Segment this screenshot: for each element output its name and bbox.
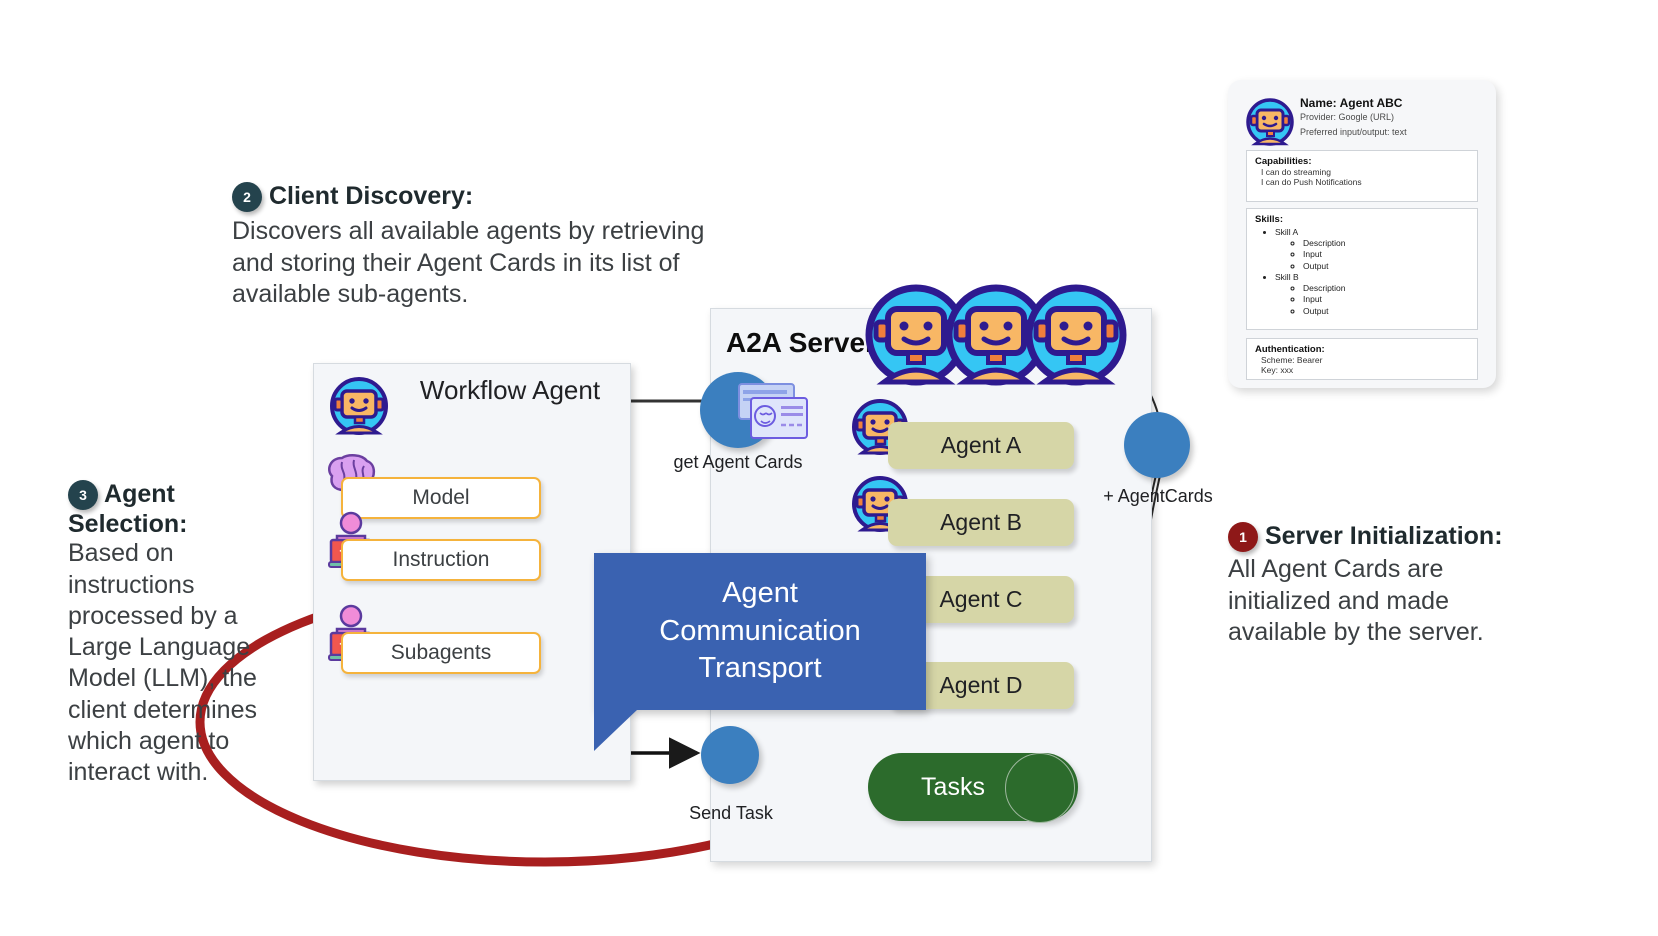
plus-agent-cards-label: + AgentCards: [1098, 486, 1218, 507]
capabilities-label: Capabilities:: [1255, 156, 1469, 167]
step-1-heading: 1 Server Initialization:: [1228, 522, 1538, 552]
step-3-badge: 3: [68, 480, 98, 510]
step-2-badge: 2: [232, 182, 262, 212]
agent-card-robot-icon: [1246, 98, 1294, 146]
capability-item-2: I can do Push Notifications: [1261, 177, 1469, 187]
bubble-line-1: Agent: [594, 575, 926, 613]
agent-chip-b[interactable]: Agent B: [888, 499, 1074, 546]
transport-bubble-tail: [594, 709, 638, 751]
skill-a-description: Description: [1303, 238, 1469, 249]
robot-trio-icon: [866, 286, 1128, 384]
step-1-badge: 1: [1228, 522, 1258, 552]
step-3-block: 3 Agent Selection: Based on instructions…: [68, 480, 280, 788]
send-task-label: Send Task: [676, 803, 786, 824]
agent-card-skills-section: Skills: Skill A Description Input Output…: [1246, 208, 1478, 330]
step-1-title: Server Initialization:: [1265, 522, 1503, 550]
agent-card-provider: Provider: Google (URL): [1300, 112, 1394, 122]
transport-bubble-text: Agent Communication Transport: [594, 575, 926, 688]
step-3-heading: 3 Agent Selection:: [68, 480, 280, 538]
capability-item-1: I can do streaming: [1261, 167, 1469, 177]
skill-b-description: Description: [1303, 283, 1469, 294]
send-task-node[interactable]: [701, 726, 759, 784]
bubble-line-3: Transport: [594, 650, 926, 688]
skill-item: Skill B Description Input Output: [1275, 272, 1469, 317]
bubble-line-2: Communication: [594, 613, 926, 651]
skill-item: Skill A Description Input Output: [1275, 227, 1469, 272]
agent-card-panel: Name: Agent ABC Provider: Google (URL) P…: [1228, 80, 1496, 388]
agent-card-preferred-io: Preferred input/output: text: [1300, 127, 1407, 137]
agent-card-capabilities-section: Capabilities: I can do streaming I can d…: [1246, 150, 1478, 202]
skill-b-sublist: Description Input Output: [1291, 283, 1469, 317]
auth-scheme: Scheme: Bearer: [1261, 355, 1469, 365]
agent-chip-a[interactable]: Agent A: [888, 422, 1074, 469]
agent-card-auth-section: Authentication: Scheme: Bearer Key: xxx: [1246, 338, 1478, 380]
skills-list: Skill A Description Input Output Skill B…: [1265, 227, 1469, 317]
workflow-chip-instruction[interactable]: Instruction: [341, 539, 541, 581]
workflow-chip-subagents[interactable]: Subagents: [341, 632, 541, 674]
skill-a-name: Skill A: [1275, 227, 1298, 237]
step-2-body: Discovers all available agents by retrie…: [232, 216, 742, 310]
step-1-body: All Agent Cards are initialized and made…: [1228, 554, 1538, 648]
cards-icon: [733, 382, 811, 444]
skill-a-output: Output: [1303, 261, 1469, 272]
authentication-label: Authentication:: [1255, 344, 1469, 355]
step-2-heading: 2 Client Discovery:: [232, 182, 742, 212]
skill-b-input: Input: [1303, 294, 1469, 305]
auth-key: Key: xxx: [1261, 365, 1469, 375]
plus-agent-cards-node[interactable]: [1124, 412, 1190, 478]
skill-a-sublist: Description Input Output: [1291, 238, 1469, 272]
workflow-agent-title: Workflow Agent: [400, 375, 620, 406]
skill-a-input: Input: [1303, 249, 1469, 260]
step-2-title: Client Discovery:: [269, 182, 473, 210]
get-agent-cards-label: get Agent Cards: [672, 452, 804, 473]
skill-b-name: Skill B: [1275, 272, 1299, 282]
workflow-agent-robot-icon: [329, 376, 389, 436]
step-3-body: Based on instructions processed by a Lar…: [68, 538, 280, 788]
agent-card-name: Name: Agent ABC: [1300, 96, 1402, 110]
skill-b-output: Output: [1303, 306, 1469, 317]
tasks-label: Tasks: [868, 773, 1038, 802]
step-1-block: 1 Server Initialization: All Agent Cards…: [1228, 522, 1538, 648]
transport-bubble: Agent Communication Transport: [594, 553, 926, 710]
skills-label: Skills:: [1255, 214, 1469, 225]
step-2-block: 2 Client Discovery: Discovers all availa…: [232, 182, 742, 310]
a2a-server-title: A2A Server: [726, 327, 876, 359]
